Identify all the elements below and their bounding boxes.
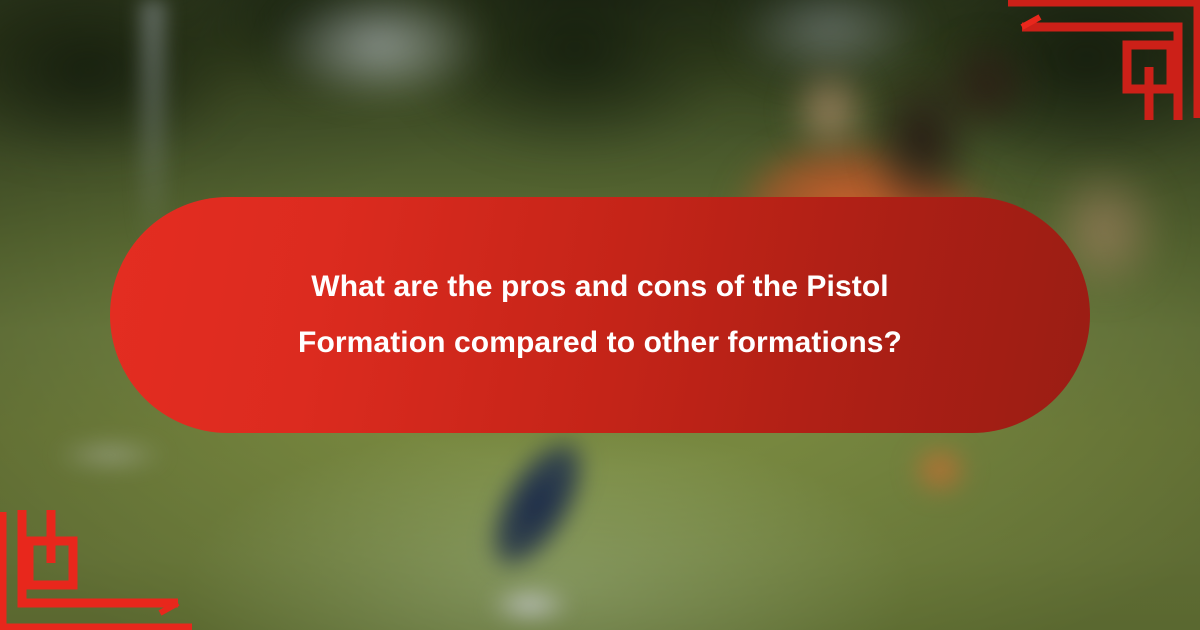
question-card: What are the pros and cons of the Pistol… [0, 0, 1200, 630]
page-title: What are the pros and cons of the Pistol… [235, 259, 965, 372]
corner-ornament-bottom-left [0, 510, 200, 630]
question-banner: What are the pros and cons of the Pistol… [110, 197, 1090, 433]
corner-ornament-top-right [1000, 0, 1200, 120]
